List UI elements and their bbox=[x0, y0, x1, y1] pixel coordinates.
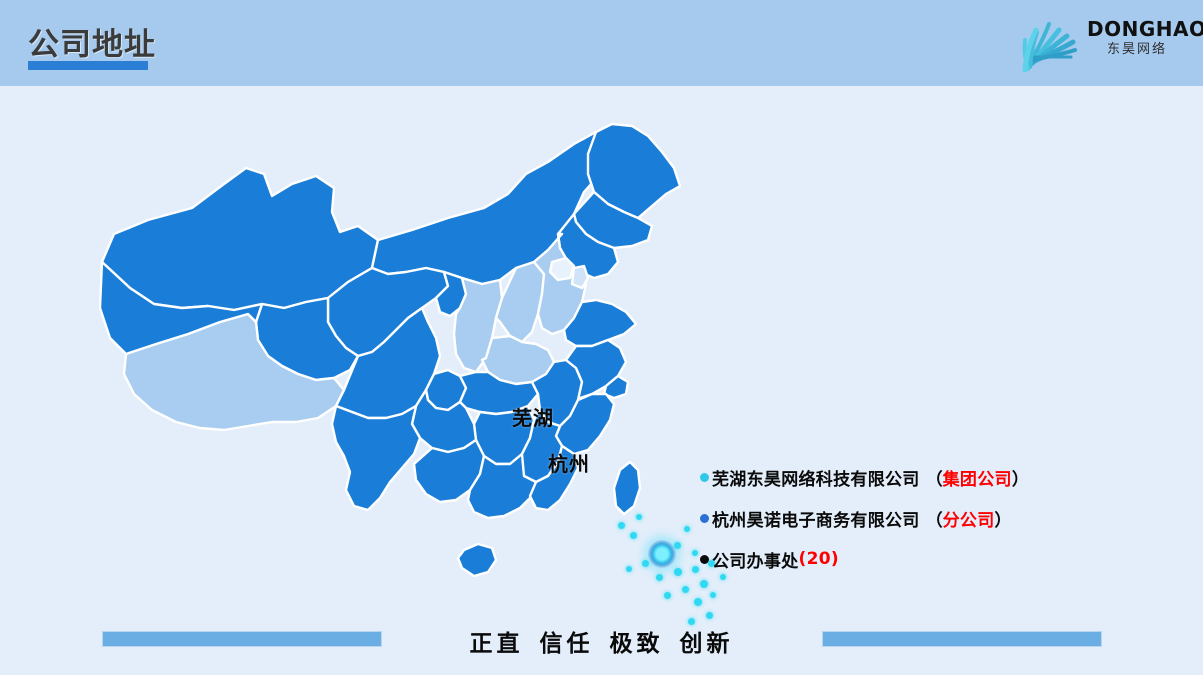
legend: 芜湖东昊网络科技有限公司 （ 集团公司 ） 杭州昊诺电子商务有限公司 （ 分公司… bbox=[700, 462, 1120, 585]
office-dot bbox=[656, 574, 663, 581]
office-dot bbox=[682, 586, 689, 593]
title-underline bbox=[28, 61, 148, 70]
legend-item-label: 芜湖东昊网络科技有限公司 bbox=[712, 465, 920, 490]
donghao-fan-logo-icon bbox=[1019, 10, 1085, 72]
legend-bullet-icon bbox=[700, 555, 709, 564]
legend-item-tag: (20) bbox=[799, 549, 839, 569]
office-dot bbox=[692, 566, 699, 573]
legend-item-tag: 分公司 bbox=[943, 506, 995, 531]
office-dot bbox=[642, 560, 649, 567]
company-logo: DONGHAO 东昊网络 bbox=[1019, 8, 1187, 74]
legend-close-paren: ） bbox=[995, 506, 1012, 531]
legend-item-label: 杭州昊诺电子商务有限公司 bbox=[712, 506, 920, 531]
office-dot bbox=[694, 598, 702, 606]
china-map bbox=[96, 122, 696, 617]
office-dot bbox=[630, 532, 637, 539]
slogan-word: 信任 bbox=[540, 631, 594, 657]
slide-header: 公司地址 bbox=[0, 0, 1203, 86]
slogan-word: 极致 bbox=[610, 631, 664, 657]
province-beijing bbox=[550, 258, 574, 280]
legend-item-group-company[interactable]: 芜湖东昊网络科技有限公司 （ 集团公司 ） bbox=[700, 462, 1120, 492]
logo-wordmark: DONGHAO 东昊网络 bbox=[1087, 18, 1187, 58]
office-dot bbox=[692, 550, 698, 556]
slogan-word: 正直 bbox=[470, 631, 524, 657]
province-hainan bbox=[458, 544, 496, 576]
office-dot bbox=[674, 542, 681, 549]
city-label-hangzhou: 杭州 bbox=[548, 448, 590, 477]
legend-item-offices[interactable]: 公司办事处 (20) bbox=[700, 544, 1120, 574]
office-dot bbox=[710, 592, 716, 598]
footer-slogan: 正直信任极致创新 bbox=[0, 624, 1203, 658]
china-map-svg bbox=[96, 122, 696, 617]
office-dot bbox=[618, 522, 625, 529]
legend-open-paren: （ bbox=[926, 506, 943, 531]
marker-wuhu-headquarters[interactable] bbox=[648, 540, 676, 568]
office-dot bbox=[706, 612, 713, 619]
legend-item-label: 公司办事处 bbox=[712, 547, 799, 572]
province-taiwan bbox=[614, 462, 640, 514]
legend-item-tag: 集团公司 bbox=[943, 465, 1012, 490]
legend-close-paren: ） bbox=[1012, 465, 1029, 490]
city-label-wuhu: 芜湖 bbox=[512, 402, 554, 431]
legend-bullet-icon bbox=[700, 473, 709, 482]
logo-chinese: 东昊网络 bbox=[1087, 41, 1187, 58]
slogan-word: 创新 bbox=[680, 631, 734, 657]
legend-item-branch-company[interactable]: 杭州昊诺电子商务有限公司 （ 分公司 ） bbox=[700, 503, 1120, 533]
legend-bullet-icon bbox=[700, 514, 709, 523]
office-dot bbox=[664, 592, 671, 599]
office-dot bbox=[636, 514, 642, 520]
legend-open-paren: （ bbox=[926, 465, 943, 490]
slide: 公司地址 bbox=[0, 0, 1203, 675]
logo-english: DONGHAO bbox=[1087, 18, 1187, 41]
office-dot bbox=[674, 568, 682, 576]
office-dot bbox=[684, 526, 690, 532]
office-dot bbox=[626, 566, 632, 572]
province-xinjiang bbox=[102, 168, 378, 310]
page-title: 公司地址 bbox=[28, 19, 156, 64]
